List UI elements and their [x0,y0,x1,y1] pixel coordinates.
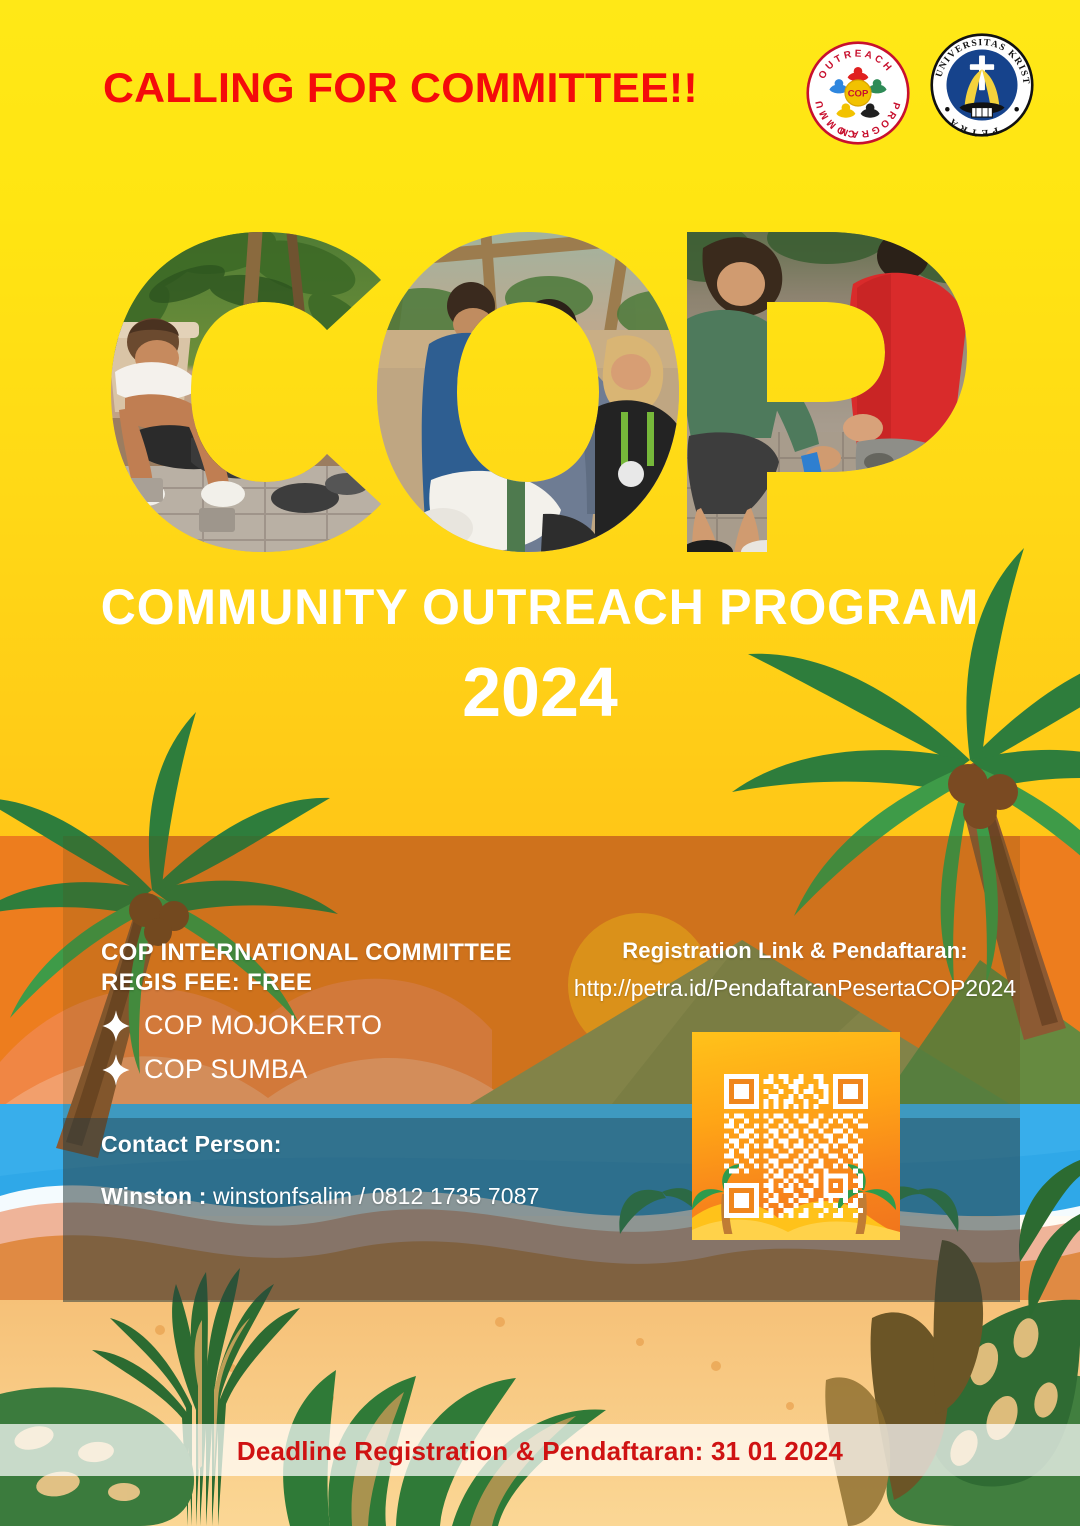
fee-line: REGIS FEE: FREE [101,968,571,998]
program-year: 2024 [0,652,1080,732]
page-title: CALLING FOR COMMITTEE!! [103,64,698,112]
sparkle-icon [101,1053,131,1087]
program-item-1: COP SUMBA [101,1053,571,1087]
sparkle-icon [101,1009,131,1043]
program-label: COP MOJOKERTO [144,1012,382,1039]
deadline-text: Deadline Registration & Pendaftaran: 31 … [0,1436,1080,1467]
cop-logo-icon: OUTREACH PROGRAM COMMUNITY COP [806,41,910,145]
hero-letter-c [95,222,395,562]
cop-hero-letters [95,222,995,562]
contact-detail-line: Winston : winstonfsalim / 0812 1735 7087 [101,1183,751,1210]
registration-heading: Registration Link & Pendaftaran: [560,938,1030,964]
program-title: COMMUNITY OUTREACH PROGRAM [16,578,1064,636]
hero-letter-o [363,222,693,562]
poster-header: CALLING FOR COMMITTEE!! OUTREACH PROGRAM… [0,0,1080,175]
photo-person-p-red [843,232,967,562]
contact-block: Contact Person: Winston : winstonfsalim … [101,1131,751,1210]
contact-name: Winston [101,1183,192,1209]
program-label: COP SUMBA [144,1056,307,1083]
petra-logo-icon: UNIVERSITAS KRISTEN PETRA [930,33,1034,137]
registration-url[interactable]: http://petra.id/PendaftaranPesertaCOP202… [540,975,1050,1002]
poster-canvas: CALLING FOR COMMITTEE!! OUTREACH PROGRAM… [0,0,1080,1526]
contact-separator: : [192,1183,213,1209]
contact-heading: Contact Person: [101,1131,751,1158]
committee-info-block: COP INTERNATIONAL COMMITTEE REGIS FEE: F… [101,938,571,1087]
hero-letter-p [667,222,989,562]
contact-divider: / [352,1183,371,1209]
program-item-0: COP MOJOKERTO [101,1009,571,1043]
contact-handle: winstonfsalim [213,1183,352,1209]
committee-title: COP INTERNATIONAL COMMITTEE [101,938,571,968]
contact-phone: 0812 1735 7087 [372,1183,540,1209]
svg-text:COP: COP [848,88,869,99]
